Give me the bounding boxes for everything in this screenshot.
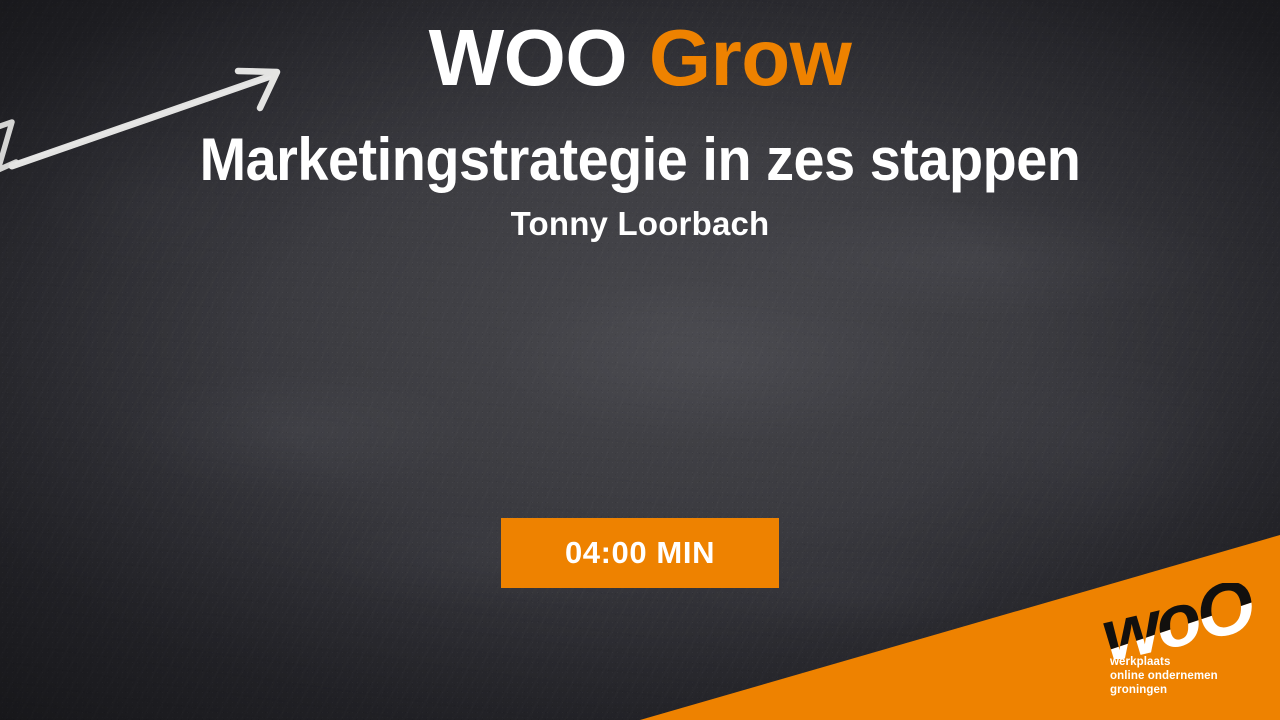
duration-badge: 04:00 MIN [501, 518, 779, 588]
woo-logo-tagline: werkplaats online ondernemen groningen [1110, 655, 1218, 697]
video-title-slide: WOO Grow Marketingstrategie in zes stapp… [0, 0, 1280, 720]
slide-title: WOO Grow [0, 16, 1280, 100]
woo-logo: woO woO werkplaats online ondernemen gro… [1096, 583, 1266, 701]
slide-title-brand: WOO [429, 13, 627, 102]
slide-subtitle: Marketingstrategie in zes stappen [45, 128, 1235, 192]
woo-wordmark-icon: woO woO [1096, 583, 1266, 659]
woo-logo-tagline-line2: online ondernemen [1110, 669, 1218, 683]
slide-title-accent: Grow [649, 13, 851, 102]
woo-logo-tagline-line1: werkplaats [1110, 655, 1218, 669]
duration-badge-label: 04:00 MIN [565, 535, 715, 571]
woo-logo-tagline-line3: groningen [1110, 683, 1218, 697]
presenter-name: Tonny Loorbach [0, 205, 1280, 243]
